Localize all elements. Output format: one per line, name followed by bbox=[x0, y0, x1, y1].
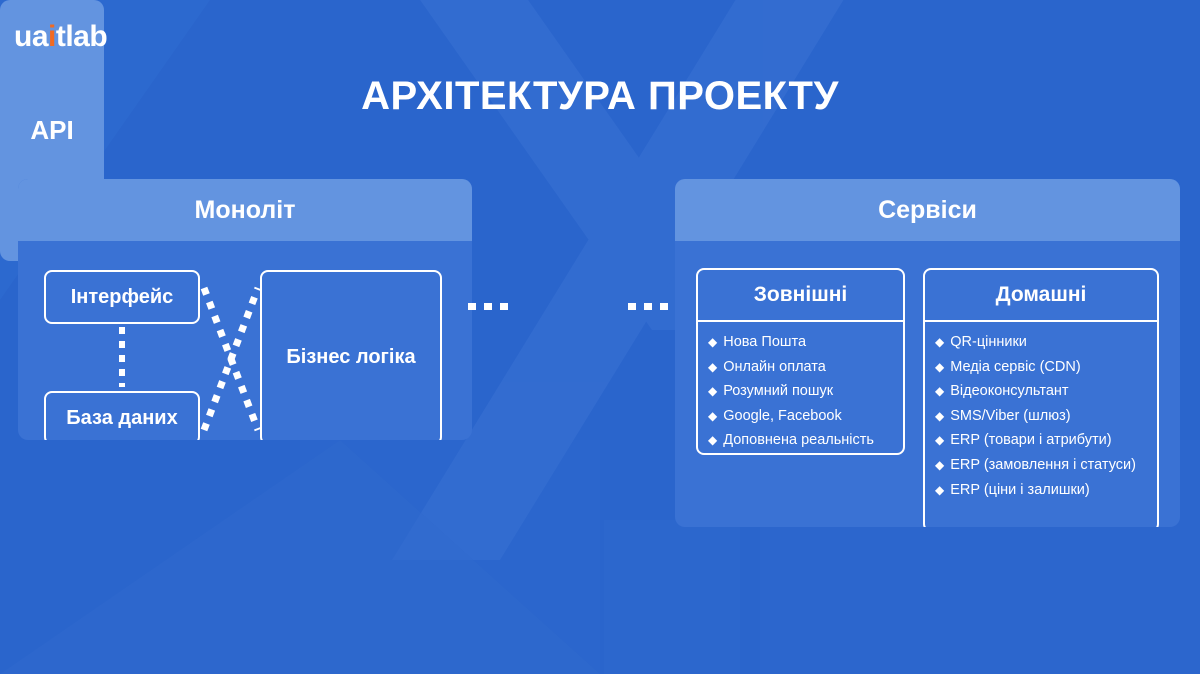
diamond-bullet-icon: ◆ bbox=[935, 404, 944, 429]
logo-text-part2: tlab bbox=[56, 22, 107, 52]
list-item[interactable]: ◆ Доповнена реальність bbox=[708, 428, 903, 453]
monolith-panel: Моноліт Інтерфейс База даних Бізнес логі… bbox=[18, 179, 472, 440]
list-item[interactable]: ◆ ERP (товари і атрибути) bbox=[935, 428, 1157, 453]
connector-database-logic bbox=[204, 288, 258, 430]
services-panel-title: Сервіси bbox=[675, 179, 1180, 241]
connector-api-services bbox=[628, 303, 676, 310]
monolith-panel-title: Моноліт bbox=[18, 179, 472, 241]
diamond-bullet-icon: ◆ bbox=[935, 428, 944, 453]
service-group-internal-list: ◆ QR-цінники ◆ Медіа сервіс (CDN) ◆ Віде… bbox=[925, 322, 1157, 508]
list-item-label: QR-цінники bbox=[950, 330, 1027, 355]
node-database-label: База даних bbox=[66, 407, 177, 430]
node-business-logic-label: Бізнес логіка bbox=[286, 346, 415, 369]
node-database[interactable]: База даних bbox=[44, 391, 200, 440]
logo-wordmark: uaitlab bbox=[14, 22, 107, 52]
diamond-bullet-icon: ◆ bbox=[708, 428, 717, 453]
node-interface[interactable]: Інтерфейс bbox=[44, 270, 200, 324]
diamond-bullet-icon: ◆ bbox=[708, 379, 717, 404]
api-block-label: API bbox=[30, 115, 73, 146]
list-item[interactable]: ◆ ERP (замовлення і статуси) bbox=[935, 453, 1157, 478]
logo-accent-letter: i bbox=[48, 22, 56, 52]
node-business-logic[interactable]: Бізнес логіка bbox=[260, 270, 442, 440]
service-group-internal: Домашні ◆ QR-цінники ◆ Медіа сервіс (CDN… bbox=[923, 268, 1159, 527]
list-item-label: Медіа сервіс (CDN) bbox=[950, 355, 1080, 380]
list-item-label: ERP (товари і атрибути) bbox=[950, 428, 1111, 453]
service-group-external-title: Зовнішні bbox=[698, 270, 903, 322]
list-item[interactable]: ◆ Медіа сервіс (CDN) bbox=[935, 355, 1157, 380]
diamond-bullet-icon: ◆ bbox=[935, 379, 944, 404]
service-group-external: Зовнішні ◆ Нова Пошта ◆ Онлайн оплата ◆ … bbox=[696, 268, 905, 455]
diamond-bullet-icon: ◆ bbox=[935, 330, 944, 355]
list-item-label: Доповнена реальність bbox=[723, 428, 874, 453]
list-item[interactable]: ◆ QR-цінники bbox=[935, 330, 1157, 355]
list-item[interactable]: ◆ Відеоконсультант bbox=[935, 379, 1157, 404]
connector-interface-database bbox=[119, 327, 125, 387]
list-item[interactable]: ◆ Розумний пошук bbox=[708, 379, 903, 404]
logo-text-part1: ua bbox=[14, 22, 48, 52]
service-group-external-list: ◆ Нова Пошта ◆ Онлайн оплата ◆ Розумний … bbox=[698, 322, 903, 455]
list-item-label: SMS/Viber (шлюз) bbox=[950, 404, 1070, 429]
connector-cross-group bbox=[200, 270, 262, 440]
services-panel: Сервіси Зовнішні ◆ Нова Пошта ◆ Онлайн о… bbox=[675, 179, 1180, 527]
diamond-bullet-icon: ◆ bbox=[708, 330, 717, 355]
diamond-bullet-icon: ◆ bbox=[708, 355, 717, 380]
list-item-label: Розумний пошук bbox=[723, 379, 833, 404]
list-item-label: Нова Пошта bbox=[723, 330, 806, 355]
list-item[interactable]: ◆ Нова Пошта bbox=[708, 330, 903, 355]
list-item-label: ERP (ціни і залишки) bbox=[950, 478, 1090, 503]
brand-logo[interactable]: uaitlab bbox=[14, 20, 107, 54]
connector-monolith-api bbox=[468, 303, 516, 310]
diamond-bullet-icon: ◆ bbox=[708, 404, 717, 429]
list-item[interactable]: ◆ Google, Facebook bbox=[708, 404, 903, 429]
node-interface-label: Інтерфейс bbox=[71, 286, 174, 309]
services-panel-body: Зовнішні ◆ Нова Пошта ◆ Онлайн оплата ◆ … bbox=[675, 241, 1180, 527]
monolith-panel-body: Інтерфейс База даних Бізнес логіка bbox=[18, 241, 472, 440]
list-item[interactable]: ◆ Онлайн оплата bbox=[708, 355, 903, 380]
page-title: АРХІТЕКТУРА ПРОЕКТУ bbox=[0, 74, 1200, 119]
list-item[interactable]: ◆ SMS/Viber (шлюз) bbox=[935, 404, 1157, 429]
list-item[interactable]: ◆ ERP (ціни і залишки) bbox=[935, 478, 1157, 503]
diamond-bullet-icon: ◆ bbox=[935, 478, 944, 503]
list-item-label: Google, Facebook bbox=[723, 404, 842, 429]
diamond-bullet-icon: ◆ bbox=[935, 453, 944, 478]
diamond-bullet-icon: ◆ bbox=[935, 355, 944, 380]
service-group-internal-title: Домашні bbox=[925, 270, 1157, 322]
list-item-label: Онлайн оплата bbox=[723, 355, 826, 380]
list-item-label: ERP (замовлення і статуси) bbox=[950, 453, 1136, 478]
list-item-label: Відеоконсультант bbox=[950, 379, 1068, 404]
